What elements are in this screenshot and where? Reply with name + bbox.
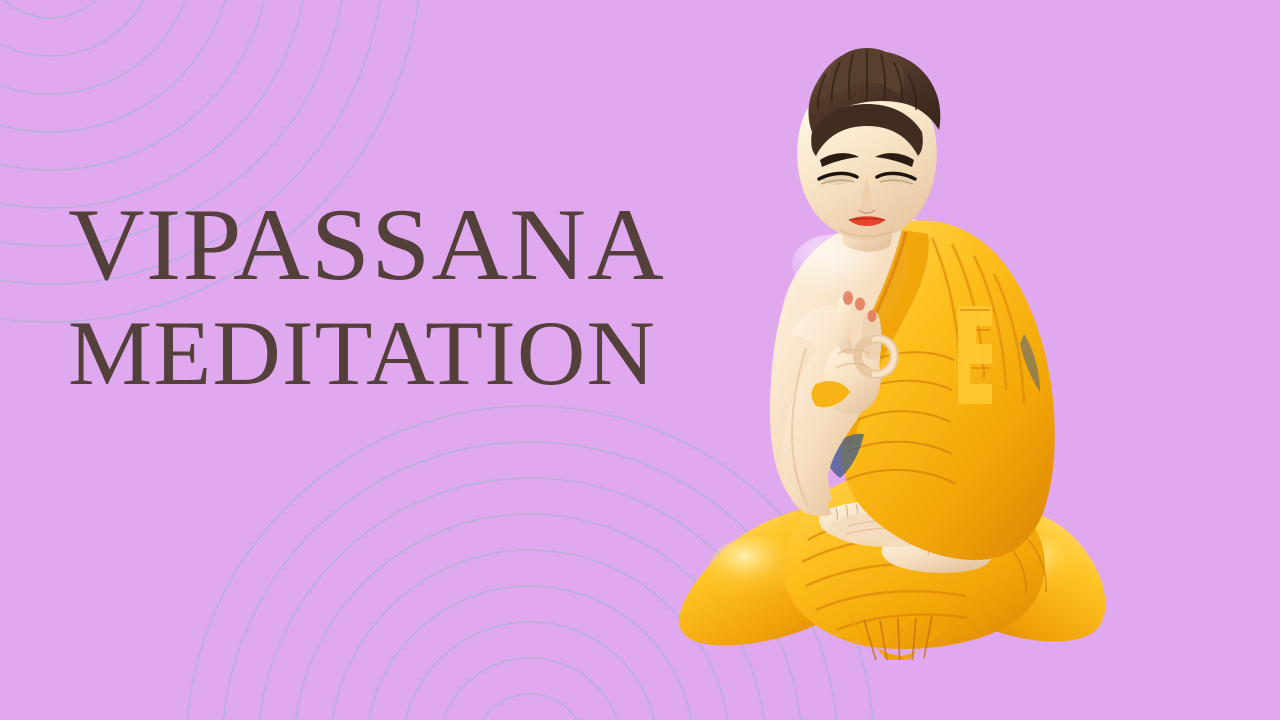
slide-canvas: VIPASSANA MEDITATION (0, 0, 1280, 720)
title-line-primary: VIPASSANA (68, 196, 686, 295)
buddha-illustration (640, 48, 1120, 660)
title-line-secondary: MEDITATION (68, 309, 686, 397)
buddha-torso-robe (770, 198, 1055, 560)
page-title: VIPASSANA MEDITATION (68, 196, 668, 397)
buddha-head (797, 48, 940, 240)
